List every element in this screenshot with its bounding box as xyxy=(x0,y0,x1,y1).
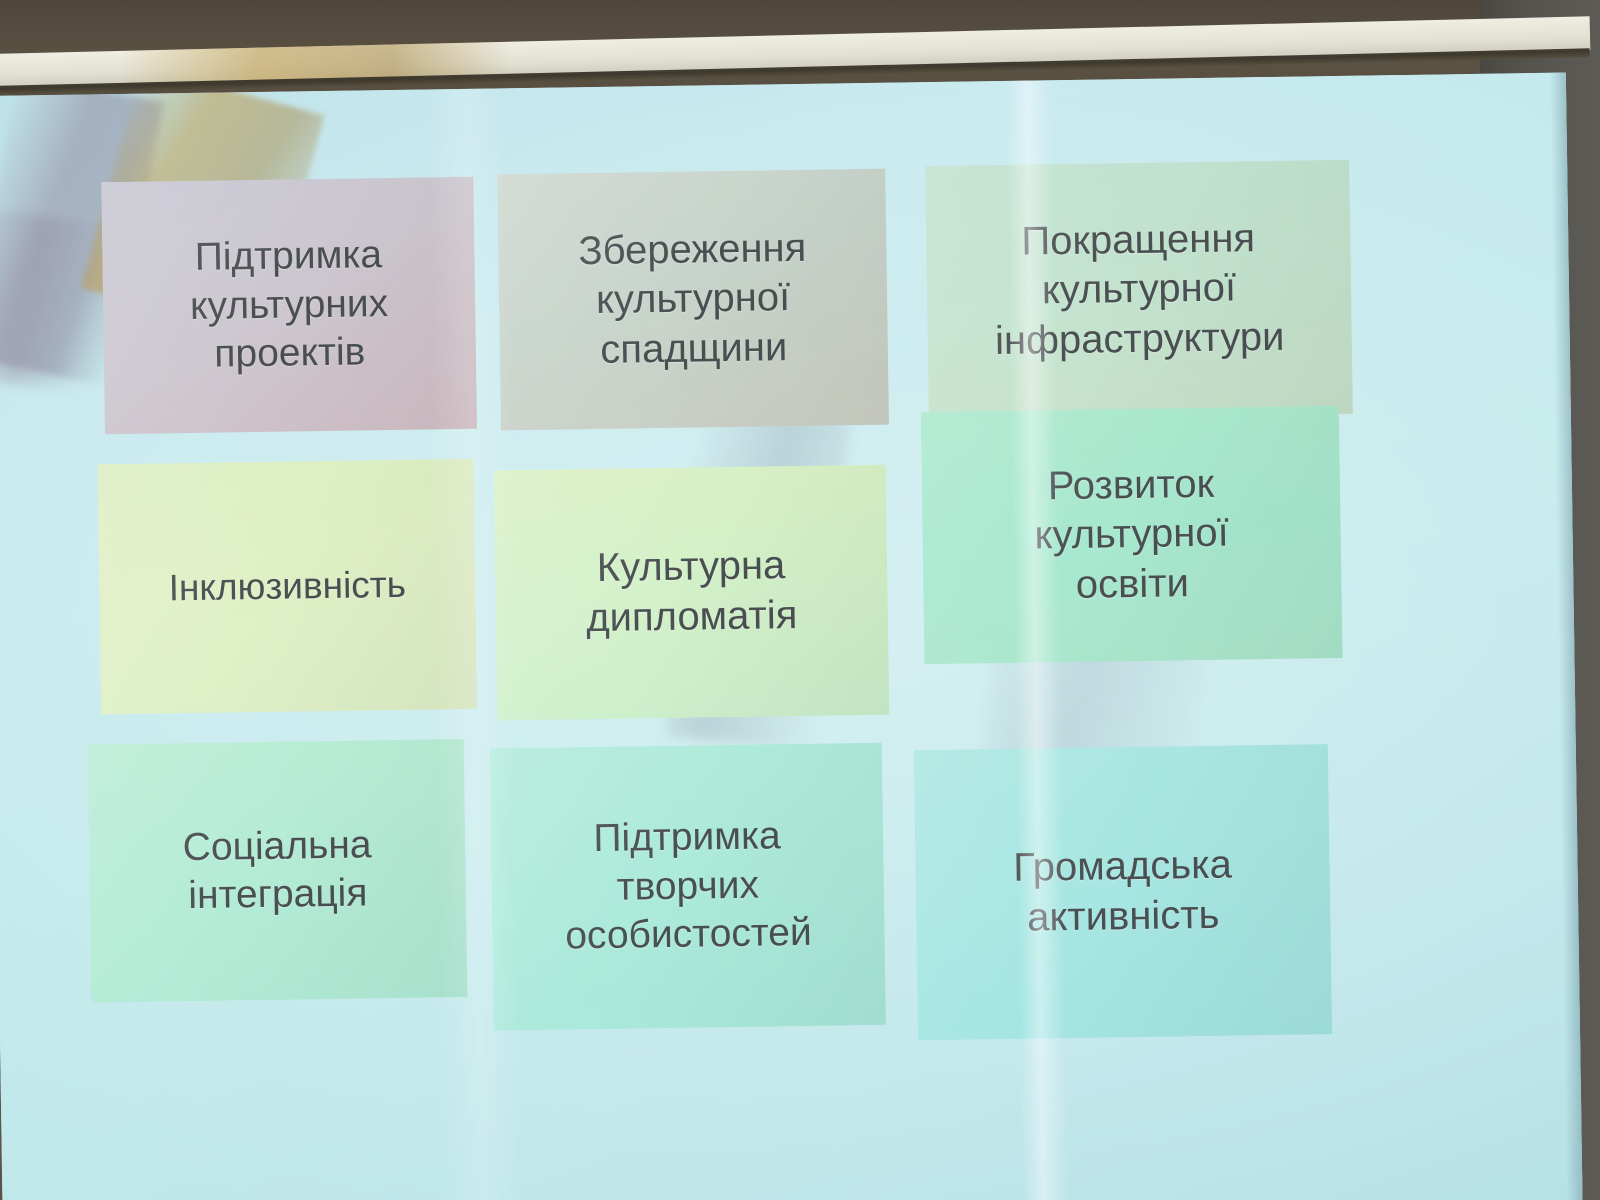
concept-cell-3[interactable]: Покращення культурної інфраструктури xyxy=(925,160,1353,420)
concept-cell-6[interactable]: Розвиток культурної освіти xyxy=(921,406,1343,664)
concept-cell-5[interactable]: Культурна дипломатія xyxy=(494,465,890,721)
concept-cell-1[interactable]: Підтримка культурних проектів xyxy=(101,177,477,434)
concept-cell-5-label: Культурна дипломатія xyxy=(585,541,798,643)
concept-cell-9[interactable]: Громадська активність xyxy=(914,744,1332,1040)
concept-cell-4[interactable]: Інклюзивність xyxy=(97,459,477,715)
concept-cell-1-label: Підтримка культурних проектів xyxy=(189,232,389,380)
concept-cell-7[interactable]: Соціальна інтеграція xyxy=(88,739,468,1003)
projection-screen: Підтримка культурних проектів Збереження… xyxy=(0,73,1583,1200)
concept-cell-8-label: Підтримка творчих особистостей xyxy=(564,812,813,961)
concept-cell-6-label: Розвиток культурної освіти xyxy=(1033,459,1229,611)
concept-cell-4-label: Інклюзивність xyxy=(168,562,406,611)
photo-canvas: Підтримка культурних проектів Збереження… xyxy=(0,0,1600,1200)
concept-cell-8[interactable]: Підтримка творчих особистостей xyxy=(490,743,886,1031)
projector-glare-left xyxy=(426,88,523,1200)
concept-cell-2-label: Збереження культурної спадщини xyxy=(578,223,808,375)
concept-cell-2[interactable]: Збереження культурної спадщини xyxy=(497,169,889,431)
concept-cell-7-label: Соціальна інтеграція xyxy=(182,821,372,921)
